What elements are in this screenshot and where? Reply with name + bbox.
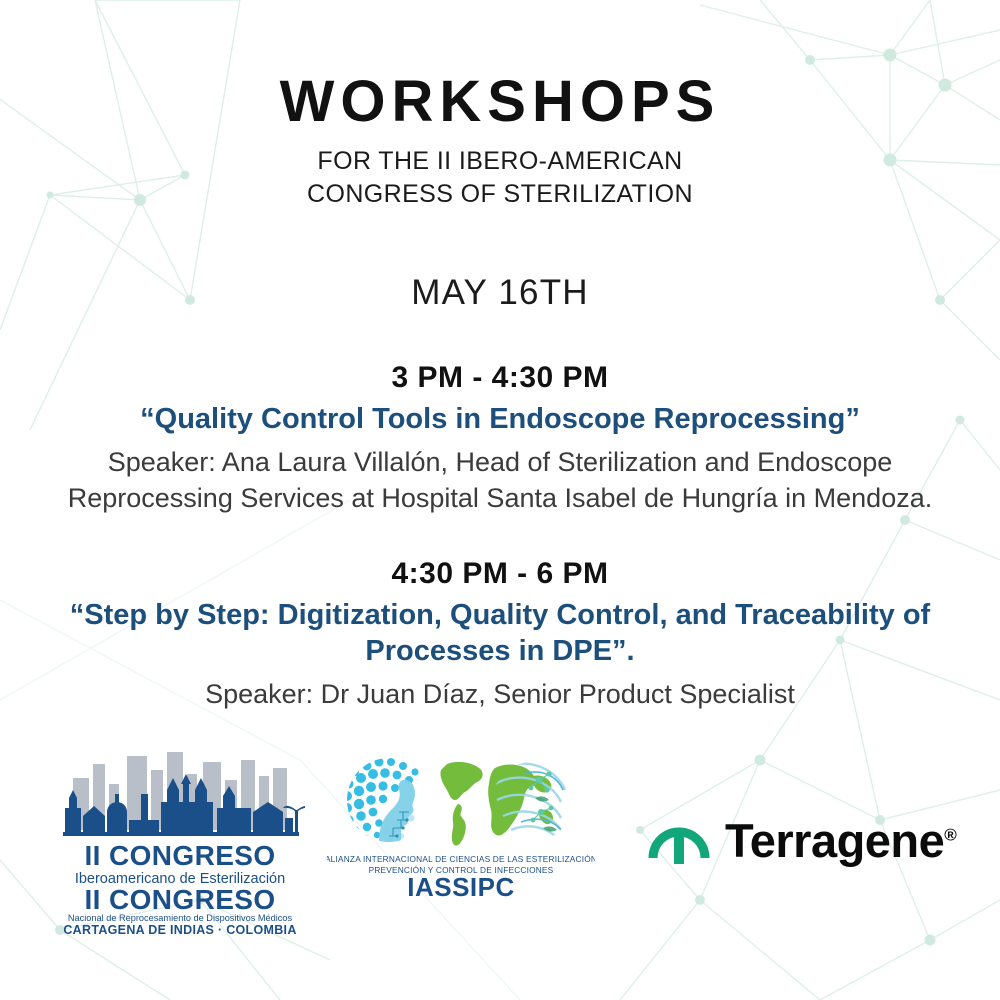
session-time: 3 PM - 4:30 PM <box>0 361 1000 395</box>
page-subtitle: FOR THE II IBERO-AMERICAN CONGRESS OF ST… <box>280 145 721 211</box>
event-date: MAY 16TH <box>411 273 589 313</box>
dotted-sphere-icon <box>342 758 419 844</box>
session-title: “Step by Step: Digitization, Quality Con… <box>0 597 1000 671</box>
logo-congreso: II CONGRESO Iberoamericano de Esteriliza… <box>55 750 305 940</box>
registered-trademark-icon: ® <box>944 825 956 844</box>
congreso-line-1: II CONGRESO <box>84 840 275 871</box>
page-subtitle-line-1: FOR THE II IBERO-AMERICAN <box>280 145 721 178</box>
page-title: WORKSHOPS <box>280 72 721 133</box>
iassipc-acronym: IASSIPC <box>407 872 515 898</box>
congreso-line-4: Nacional de Reprocesamiento de Dispositi… <box>68 913 293 923</box>
logo-iassipc: ALIANZA INTERNACIONAL DE CIENCIAS DE LAS… <box>327 750 595 903</box>
session-speaker: Speaker: Dr Juan Díaz, Senior Product Sp… <box>0 677 1000 713</box>
logo-row: II CONGRESO Iberoamericano de Esteriliza… <box>0 750 1000 940</box>
session-item: 4:30 PM - 6 PM “Step by Step: Digitizati… <box>0 557 1000 714</box>
iassipc-tagline-line-1: ALIANZA INTERNACIONAL DE CIENCIAS DE LAS… <box>327 854 595 864</box>
green-globe-icon <box>440 762 553 846</box>
congreso-line-3: II CONGRESO <box>84 884 275 915</box>
session-list: 3 PM - 4:30 PM “Quality Control Tools in… <box>0 361 1000 713</box>
session-title: “Quality Control Tools in Endoscope Repr… <box>0 401 1000 438</box>
congreso-line-5: CARTAGENA DE INDIAS · COLOMBIA <box>63 923 296 935</box>
logo-terragene: Terragene® <box>647 750 956 868</box>
page-subtitle-line-2: CONGRESS OF STERILIZATION <box>280 178 721 211</box>
terragene-wordmark: Terragene® <box>725 813 956 868</box>
session-speaker: Speaker: Ana Laura Villalón, Head of Ste… <box>0 445 1000 517</box>
poster-root: WORKSHOPS FOR THE II IBERO-AMERICAN CONG… <box>0 0 1000 1000</box>
terragene-wordmark-text: Terragene <box>725 814 944 867</box>
poster-header: WORKSHOPS FOR THE II IBERO-AMERICAN CONG… <box>280 72 721 211</box>
session-time: 4:30 PM - 6 PM <box>0 557 1000 591</box>
terragene-arch-icon <box>647 812 711 868</box>
session-item: 3 PM - 4:30 PM “Quality Control Tools in… <box>0 361 1000 517</box>
